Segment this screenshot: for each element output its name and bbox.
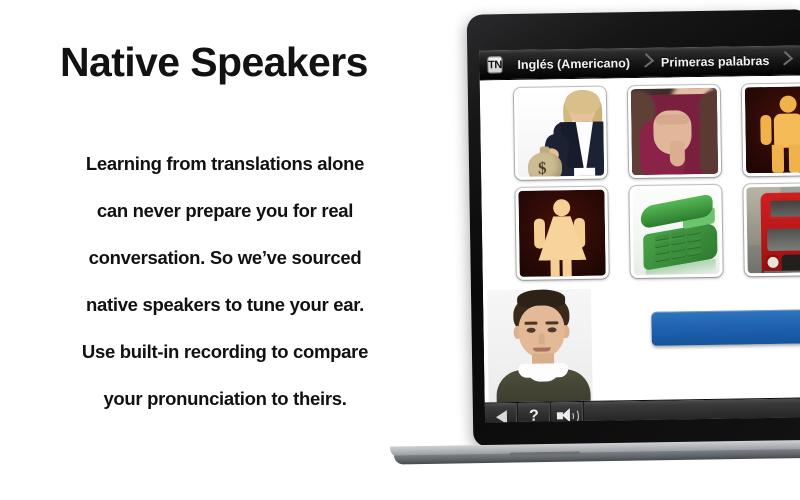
body-line: your pronunciation to theirs. bbox=[16, 375, 434, 422]
laptop-device: TN Inglés (Americano) Primeras palabras bbox=[390, 0, 800, 500]
audio-button[interactable] bbox=[551, 401, 584, 422]
womens-restroom-sign-image bbox=[518, 190, 605, 277]
body-line: Learning from translations alone bbox=[16, 140, 434, 187]
prompt-area: bathr bbox=[483, 285, 800, 402]
tile-green-telephone[interactable] bbox=[629, 185, 722, 278]
tile-thumbs-down[interactable] bbox=[628, 85, 721, 178]
tile-red-double-decker-bus[interactable] bbox=[743, 183, 800, 276]
marketing-body: Learning from translations alone can nev… bbox=[16, 140, 434, 422]
back-button[interactable] bbox=[485, 402, 518, 422]
tile-womens-restroom-sign[interactable] bbox=[515, 187, 608, 280]
breadcrumb-item-lesson[interactable]: Primeras palabras bbox=[652, 53, 779, 69]
laptop-display: TN Inglés (Americano) Primeras palabras bbox=[479, 45, 800, 422]
body-line: conversation. So we’ve sourced bbox=[16, 234, 434, 281]
green-telephone-image bbox=[632, 188, 719, 275]
chevron-right-icon bbox=[639, 47, 652, 77]
page-title: Native Speakers bbox=[60, 40, 368, 85]
thumbs-down-image bbox=[631, 88, 718, 175]
help-button[interactable]: ? bbox=[518, 402, 551, 423]
question-mark-icon: ? bbox=[529, 408, 539, 422]
language-app: TN Inglés (Americano) Primeras palabras bbox=[479, 45, 800, 422]
red-double-decker-bus-image bbox=[746, 186, 800, 273]
back-arrow-icon bbox=[495, 410, 506, 423]
body-line: can never prepare you for real bbox=[16, 187, 434, 234]
speaker-icon bbox=[557, 408, 577, 422]
answer-button[interactable]: bathr bbox=[651, 309, 800, 346]
laptop-screen-bezel: TN Inglés (Americano) Primeras palabras bbox=[467, 9, 800, 446]
screenshot-root: Native Speakers Learning from translatio… bbox=[0, 0, 800, 500]
body-line: Use built-in recording to compare bbox=[16, 328, 434, 375]
mens-restroom-sign-image bbox=[745, 86, 800, 173]
app-toolbar: ? bbox=[485, 397, 800, 422]
native-speaker-portrait bbox=[487, 289, 593, 403]
image-tile-grid: $ bbox=[480, 75, 800, 290]
chevron-right-icon bbox=[778, 45, 791, 75]
money-bag-businesswoman-image: $ bbox=[517, 90, 604, 177]
tile-mens-restroom-sign[interactable] bbox=[742, 83, 800, 176]
breadcrumb-item-language[interactable]: Inglés (Americano) bbox=[508, 55, 639, 71]
body-line: native speakers to tune your ear. bbox=[16, 281, 434, 328]
tn-logo-icon[interactable]: TN bbox=[487, 56, 502, 73]
laptop-base bbox=[390, 440, 800, 473]
marketing-panel: Native Speakers Learning from translatio… bbox=[0, 0, 450, 500]
tile-money-bag-businesswoman[interactable]: $ bbox=[514, 87, 607, 180]
